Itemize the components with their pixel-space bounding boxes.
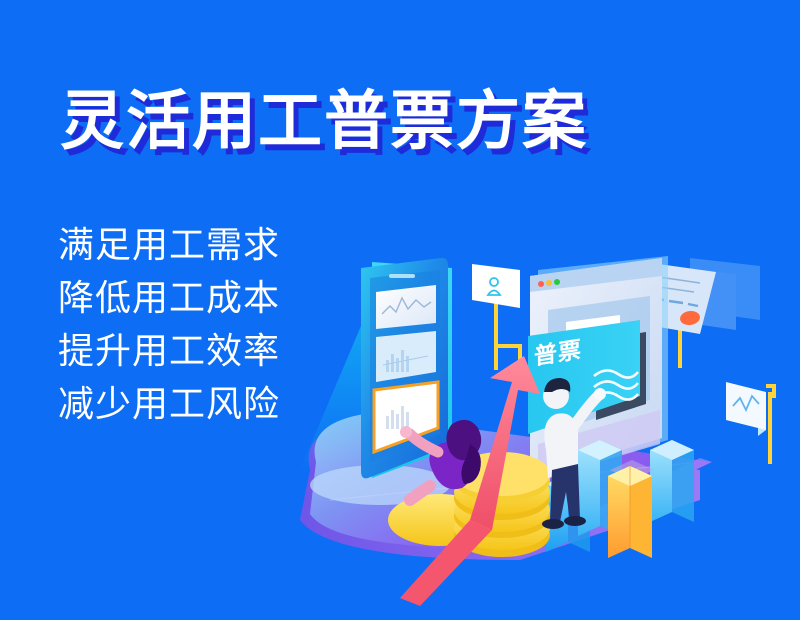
coin-stack (388, 452, 550, 557)
page-title: 灵活用工普票方案 (60, 88, 588, 155)
coin-stack-right (454, 452, 550, 557)
benefit-item-4: 减少用工风险 (58, 377, 280, 430)
growth-arrow (400, 356, 540, 606)
isometric-bar-chart (546, 440, 694, 558)
bar-1 (546, 474, 590, 552)
benefit-item-1: 满足用工需求 (58, 218, 280, 271)
poster-canvas: 灵活用工普票方案 满足用工需求 降低用工成本 提升用工效率 减少用工风险 普票 (0, 0, 800, 620)
user-avatar-card (472, 264, 520, 376)
phone-mockup (361, 258, 452, 478)
phone-glow (300, 300, 450, 505)
bar-4 (650, 440, 694, 522)
isometric-platform (300, 414, 712, 560)
floating-panels (668, 258, 760, 330)
seated-woman (400, 420, 481, 500)
invoice-panel-label: 普票 (534, 332, 604, 403)
benefit-item-2: 降低用工成本 (58, 271, 280, 324)
benefit-item-3: 提升用工效率 (58, 324, 280, 377)
bar-3-highlight (608, 460, 654, 558)
credit-card (630, 262, 716, 368)
mini-line-chart-card (726, 382, 774, 464)
bar-2 (578, 440, 622, 536)
benefit-list: 满足用工需求 降低用工成本 提升用工效率 减少用工风险 (58, 218, 280, 430)
